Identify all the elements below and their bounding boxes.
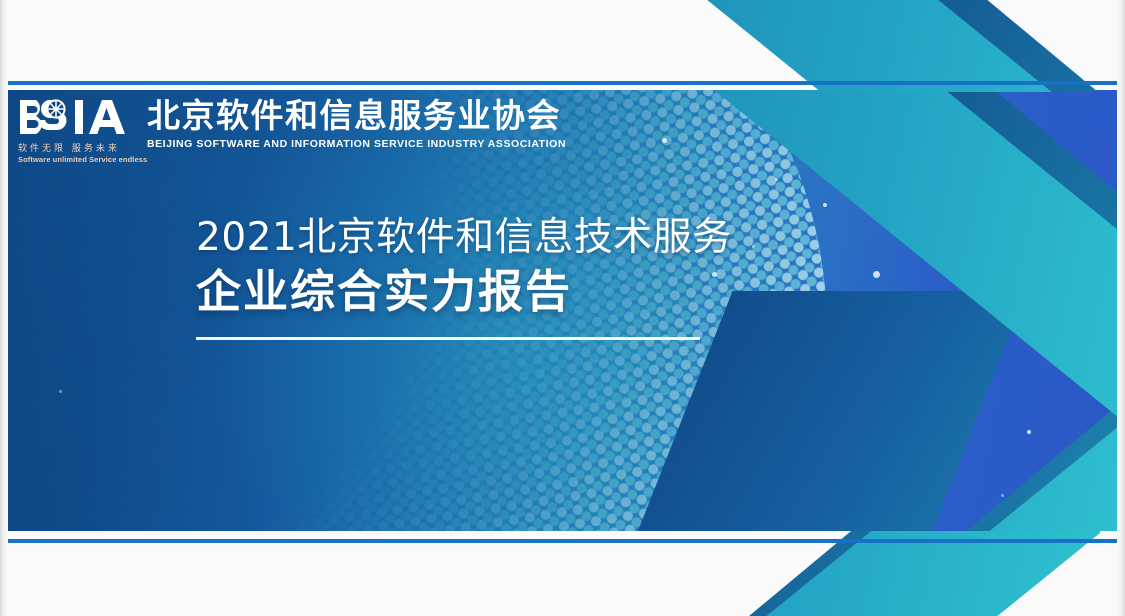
top-divider-rule xyxy=(7,81,1118,85)
speck xyxy=(59,390,62,393)
chevron-bottom-overflow xyxy=(620,531,1100,616)
speck xyxy=(1027,430,1031,434)
speck xyxy=(752,245,755,248)
logo-tagline-cn: 软件无限 服务未来 xyxy=(18,141,136,154)
logo-org-names: 北京软件和信息服务业协会 BEIJING SOFTWARE AND INFORM… xyxy=(147,98,566,150)
title-underline-rule xyxy=(196,337,700,340)
page-edge-right xyxy=(1117,0,1125,616)
bsia-logo-lockup: 软件无限 服务未来 Software unlimited Service end… xyxy=(18,98,566,164)
chevron-top-overflow xyxy=(620,0,1100,92)
bsia-wordmark-icon xyxy=(18,98,136,138)
speck xyxy=(823,203,827,207)
chevron-teal-bottom-sliver xyxy=(648,531,1100,616)
bottom-divider-rule xyxy=(7,539,1118,543)
speck xyxy=(873,271,880,278)
bsia-logo-mark: 软件无限 服务未来 Software unlimited Service end… xyxy=(18,98,136,164)
logo-tagline-en: Software unlimited Service endless xyxy=(18,155,136,164)
report-cover-slide: 软件无限 服务未来 Software unlimited Service end… xyxy=(0,0,1125,616)
org-name-cn: 北京软件和信息服务业协会 xyxy=(147,98,566,134)
chevron-teal-top-sliver xyxy=(648,0,1100,92)
title-line-2: 企业综合实力报告 xyxy=(196,265,716,319)
cover-title-block: 2021北京软件和信息技术服务 企业综合实力报告 xyxy=(196,216,716,340)
title-line-1: 2021北京软件和信息技术服务 xyxy=(196,216,716,261)
speck xyxy=(1001,494,1004,497)
chevron-dark-top-sliver xyxy=(620,0,1100,92)
speck xyxy=(662,138,667,143)
chevron-dark-bottom-sliver xyxy=(620,531,1100,616)
globe-sunburst-icon xyxy=(46,99,65,118)
org-name-en: BEIJING SOFTWARE AND INFORMATION SERVICE… xyxy=(147,138,566,150)
speck xyxy=(775,178,778,181)
